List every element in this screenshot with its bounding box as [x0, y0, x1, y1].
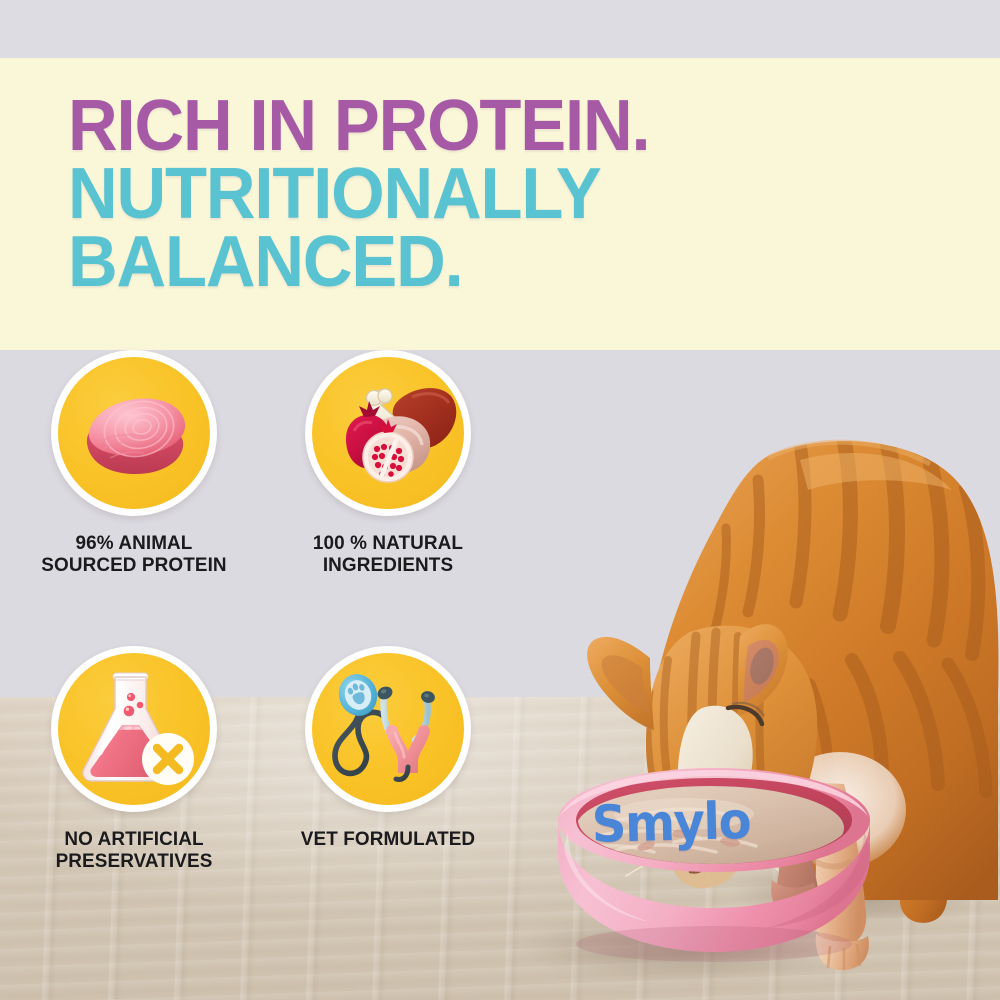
no-preservatives-flask-icon	[58, 653, 210, 805]
advertisement-canvas: RICH IN PROTEIN. NUTRITIONALLY BALANCED.	[0, 0, 1000, 1000]
feature-label-line-1: NO ARTIFICIAL	[18, 829, 251, 851]
badge-circle	[312, 357, 464, 509]
feature-row-1: 96% ANIMAL SOURCED PROTEIN	[0, 350, 520, 646]
badge-ring	[305, 646, 471, 812]
bowl-brand-wordmark: Smylo	[565, 791, 776, 855]
badge-circle	[58, 653, 210, 805]
feature-label-line-2: SOURCED PROTEIN	[18, 555, 251, 577]
feature-item-vet-formulated: VET FORMULATED	[268, 646, 508, 851]
badge-ring	[51, 350, 217, 516]
natural-ingredients-icon	[312, 357, 464, 509]
headline-line-3: BALANCED.	[68, 228, 737, 296]
badge-ring	[305, 350, 471, 516]
headline-block: RICH IN PROTEIN. NUTRITIONALLY BALANCED.	[68, 92, 768, 296]
product-photo: Smylo	[500, 340, 1000, 1000]
tuna-steak-icon	[58, 357, 210, 509]
feature-item-no-artificial-preservatives: NO ARTIFICIAL PRESERVATIVES	[14, 646, 254, 873]
feature-grid: 96% ANIMAL SOURCED PROTEIN	[0, 350, 520, 942]
pet-food-bowl	[500, 340, 1000, 1000]
feature-label: NO ARTIFICIAL PRESERVATIVES	[18, 829, 251, 873]
headline-line-2: NUTRITIONALLY	[68, 160, 737, 228]
top-border-band	[0, 0, 1000, 58]
feature-item-natural-ingredients: 100 % NATURAL INGREDIENTS	[268, 350, 508, 577]
feature-item-animal-sourced-protein: 96% ANIMAL SOURCED PROTEIN	[14, 350, 254, 577]
feature-label-line-1: VET FORMULATED	[272, 829, 505, 851]
feature-row-2: NO ARTIFICIAL PRESERVATIVES	[0, 646, 520, 942]
stethoscope-paw-icon	[312, 653, 464, 805]
badge-circle	[58, 357, 210, 509]
feature-label-line-1: 96% ANIMAL	[18, 533, 251, 555]
feature-label: 96% ANIMAL SOURCED PROTEIN	[18, 533, 251, 577]
feature-label-line-2: PRESERVATIVES	[18, 851, 251, 873]
badge-circle	[312, 653, 464, 805]
headline-line-1: RICH IN PROTEIN.	[68, 92, 737, 160]
feature-label: 100 % NATURAL INGREDIENTS	[272, 533, 505, 577]
feature-label-line-2: INGREDIENTS	[272, 555, 505, 577]
badge-ring	[51, 646, 217, 812]
feature-label: VET FORMULATED	[272, 829, 505, 851]
feature-label-line-1: 100 % NATURAL	[272, 533, 505, 555]
